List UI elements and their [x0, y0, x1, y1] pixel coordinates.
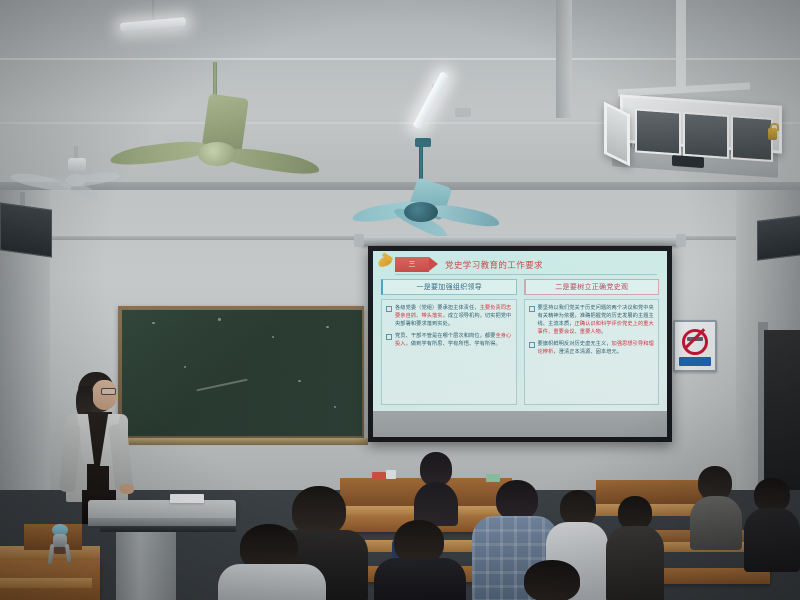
bullet-marker-icon — [386, 334, 392, 340]
podium-top[interactable] — [88, 500, 236, 520]
bullet-marker-icon — [386, 306, 392, 312]
body-text: ，做到学有所思、学有所悟、学有所得。 — [406, 341, 501, 347]
student — [218, 524, 326, 600]
slide-title-row: 三 党史学习教育的工作要求 — [395, 257, 657, 275]
ceiling-fan-far-left-icon — [10, 160, 120, 208]
projector-security-cage — [620, 94, 782, 153]
light-bracket — [455, 108, 471, 117]
projection-screen[interactable]: 三 党史学习教育的工作要求 一是要加强组织领导 各级党委（党组）要承担主 — [368, 246, 672, 442]
student — [690, 466, 742, 548]
desk-item — [386, 470, 396, 479]
column-heading-right: 二是要树立正确党史观 — [524, 279, 660, 295]
projector-mount-pole — [676, 0, 686, 88]
sign-caption-bar — [679, 357, 711, 366]
screen-roller-housing — [360, 236, 680, 245]
student — [606, 496, 664, 600]
bullet-text: 要旗帜鲜明反对历史虚无主义，加强思想引导和理论辨析，澄清正本清源、固本培元。 — [538, 340, 655, 356]
padlock-icon — [768, 128, 777, 140]
slide-title: 党史学习教育的工作要求 — [445, 259, 543, 271]
column-heading-left-text: 一是要加强组织领导 — [416, 282, 482, 292]
bullet-item: 各级党委（党组）要承担主体责任，主要负责同志要亲自抓、带头落实，成立领导机构，切… — [386, 304, 512, 328]
student — [374, 520, 466, 600]
party-emblem-icon — [378, 254, 395, 269]
bullet-item: 党员、干部不管是在哪个层次和岗位，都要全身心投入，做到学有所思、学有所悟、学有所… — [386, 332, 512, 348]
bullet-item: 要坚持以我们党关于历史问题的两个决议和党中央有关精神为依据，准确把握党的历史发展… — [529, 304, 655, 336]
wall-speaker-left-icon — [0, 202, 52, 257]
bullet-text: 党员、干部不管是在哪个层次和岗位，都要全身心投入，做到学有所思、学有所悟、学有所… — [395, 332, 512, 348]
light-stem — [152, 0, 154, 22]
bullet-item: 要旗帜鲜明反对历史虚无主义，加强思想引导和理论辨析，澄清正本清源、固本培元。 — [529, 340, 655, 356]
roller-cap-left — [354, 234, 364, 247]
bullet-marker-icon — [529, 306, 535, 312]
podium-papers — [170, 494, 204, 503]
wall-speaker-right-icon — [757, 215, 800, 261]
bullet-marker-icon — [529, 342, 535, 348]
desk-item — [372, 472, 386, 480]
column-body-left: 各级党委（党组）要承担主体责任，主要负责同志要亲自抓、带头落实，成立领导机构，切… — [381, 299, 517, 405]
student — [414, 452, 458, 522]
bullet-text: 各级党委（党组）要承担主体责任，主要负责同志要亲自抓、带头落实，成立领导机构，切… — [395, 304, 512, 328]
body-text: 党员、干部不管是在哪个层次和岗位，都要 — [395, 333, 495, 339]
body-text: 。 — [601, 329, 606, 335]
slide-columns: 一是要加强组织领导 各级党委（党组）要承担主体责任，主要负责同志要亲自抓、带头落… — [381, 279, 659, 405]
slide-section-number: 三 — [409, 261, 416, 268]
cage-window — [635, 108, 681, 155]
roller-cap-right — [676, 234, 686, 247]
column-heading-left: 一是要加强组织领导 — [381, 279, 517, 295]
body-text: 要旗帜鲜明反对历史虚无主义， — [538, 341, 612, 347]
screen-surface: 三 党史学习教育的工作要求 一是要加强组织领导 各级党委（党组）要承担主 — [373, 251, 667, 437]
podium-edge — [88, 518, 236, 526]
presenter-face — [92, 380, 117, 410]
body-text: 各级党委（党组）要承担主体责任， — [395, 305, 480, 311]
student — [744, 478, 800, 570]
presenter-hand — [120, 484, 134, 494]
prohibition-ring-icon — [682, 329, 708, 355]
doorway[interactable] — [764, 330, 800, 490]
ceiling-fan-center-icon — [352, 176, 500, 238]
student — [498, 560, 608, 600]
slide-column-right: 二是要树立正确党史观 要坚持以我们党关于历史问题的两个决议和党中央有关精神为依据… — [524, 279, 660, 405]
no-smoking-sign — [673, 320, 717, 372]
cage-window — [683, 112, 729, 159]
cage-window — [731, 115, 773, 162]
ceiling-beam — [556, 0, 572, 118]
presentation-slide: 三 党史学习教育的工作要求 一是要加强组织领导 各级党委（党组）要承担主 — [373, 251, 667, 411]
screen-lower-band — [373, 411, 667, 437]
bullet-text: 要坚持以我们党关于历史问题的两个决议和党中央有关精神为依据，准确把握党的历史发展… — [538, 304, 655, 336]
glasses-icon — [101, 388, 116, 395]
column-heading-right-text: 二是要树立正确党史观 — [555, 282, 628, 292]
classroom-scene: 三 党史学习教育的工作要求 一是要加强组织领导 各级党委（党组）要承担主 — [0, 0, 800, 600]
robot-base — [54, 547, 66, 554]
slide-section-chip: 三 — [395, 257, 429, 272]
podium-column — [116, 532, 176, 600]
ceiling-fan-left-icon — [110, 96, 320, 180]
slide-column-left: 一是要加强组织领导 各级党委（党组）要承担主体责任，主要负责同志要亲自抓、带头落… — [381, 279, 517, 405]
chalk-smudge — [196, 379, 247, 392]
desk-shelf — [0, 578, 92, 588]
robot-figurine — [46, 524, 74, 558]
column-body-right: 要坚持以我们党关于历史问题的两个决议和党中央有关精神为依据，准确把握党的历史发展… — [524, 299, 660, 405]
body-text: ，澄清正本清源、固本培元。 — [553, 349, 622, 355]
